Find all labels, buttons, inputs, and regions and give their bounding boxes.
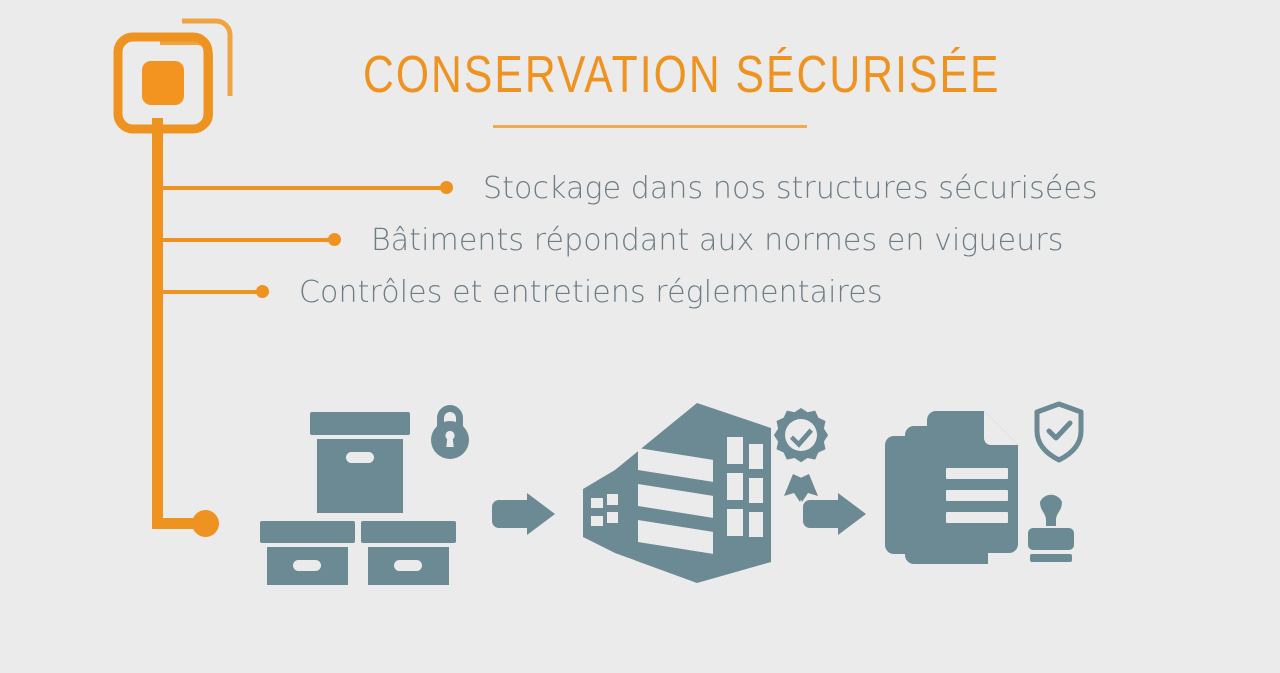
title-block: CONSERVATION SÉCURISÉE (300, 48, 1000, 128)
brand-logo (104, 14, 244, 134)
bullet-label-1: Stockage dans nos structures sécurisées (483, 174, 1098, 204)
slide-root: CONSERVATION SÉCURISÉE Stockage dans nos… (0, 0, 1280, 673)
bullet-label-3: Contrôles et entretiens réglementaires (299, 278, 883, 308)
bullet-connector-3 (158, 290, 258, 294)
bullet-dot-3 (256, 285, 269, 298)
bullet-dot-2 (328, 233, 341, 246)
timeline-spine (152, 118, 163, 529)
padlock-icon (431, 405, 469, 459)
page-title: CONSERVATION SÉCURISÉE (363, 48, 937, 103)
rubber-stamp-icon (1028, 495, 1074, 562)
bullet-connector-2 (158, 238, 330, 242)
building-icon (575, 390, 835, 589)
certification-badge-icon (774, 408, 828, 502)
bullet-dot-1 (440, 181, 453, 194)
documents-icon (880, 390, 1095, 589)
title-divider (493, 125, 807, 128)
bullet-label-2: Bâtiments répondant aux normes en vigueu… (371, 226, 1064, 256)
process-icon-row (255, 390, 1095, 590)
archive-boxes-icon (255, 390, 485, 589)
shield-check-icon (1037, 404, 1081, 460)
arrow-right-icon-2 (800, 493, 870, 539)
bullet-connector-1 (158, 186, 442, 190)
timeline-end-dot (192, 510, 219, 537)
arrow-right-icon-1 (489, 493, 559, 539)
